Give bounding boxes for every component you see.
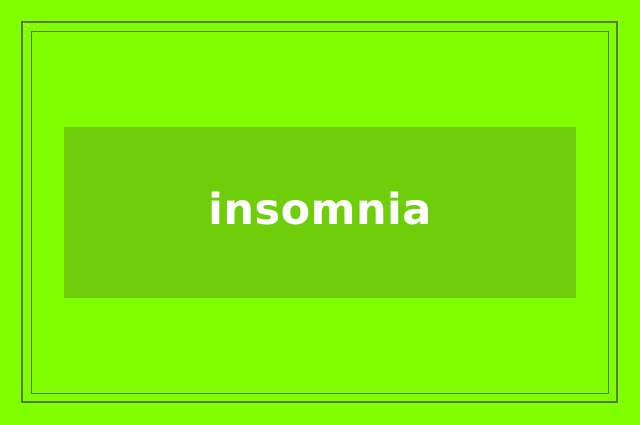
compression-speckle (23, 23, 25, 25)
image-canvas: insomnia (0, 0, 640, 425)
compression-speckle (24, 35, 26, 37)
compression-speckle (33, 26, 35, 28)
compression-speckle (25, 28, 27, 30)
banner-title-text: insomnia (208, 189, 432, 232)
compression-speckle (27, 24, 29, 26)
compression-speckle (35, 33, 37, 35)
title-banner: insomnia (64, 127, 576, 298)
